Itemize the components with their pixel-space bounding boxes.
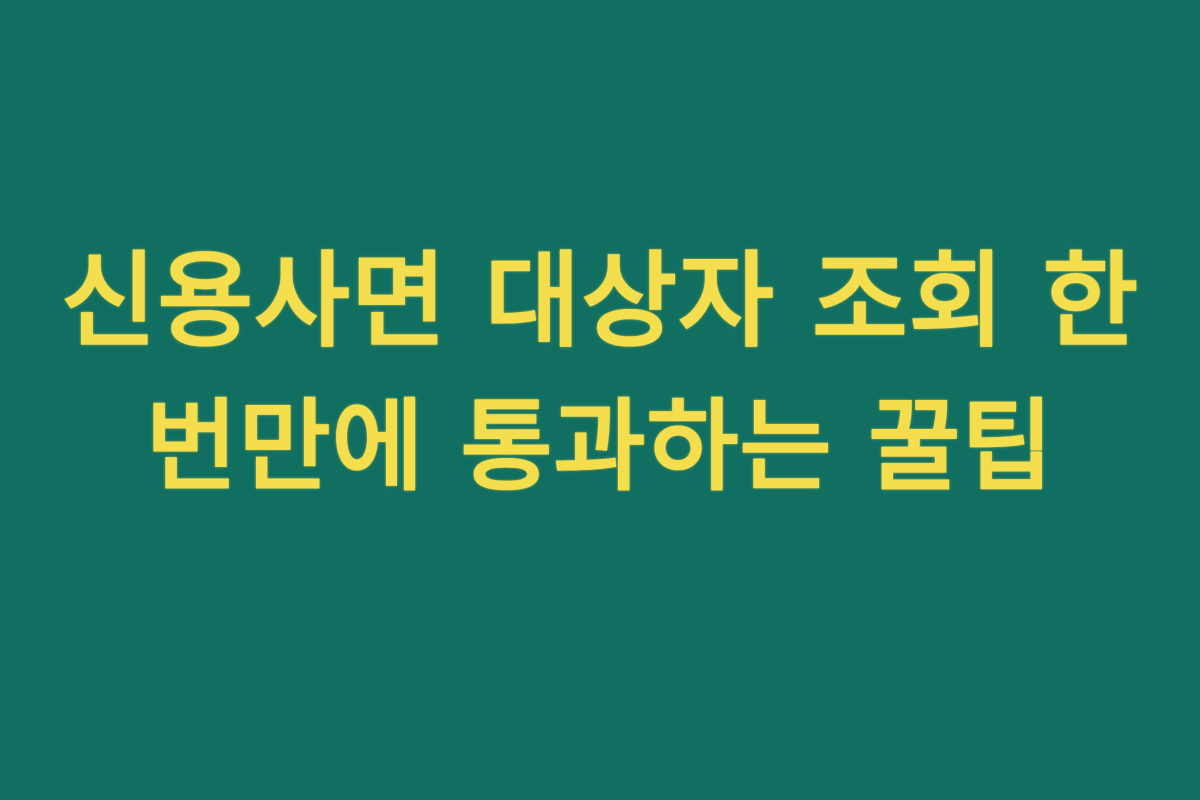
headline-block: 신용사면 대상자 조회 한 번만에 통과하는 꿀팁 xyxy=(40,229,1160,519)
headline-line-2: 번만에 통과하는 꿀팁 xyxy=(40,374,1160,519)
headline-line-1: 신용사면 대상자 조회 한 xyxy=(40,229,1160,374)
thumbnail-card: 신용사면 대상자 조회 한 번만에 통과하는 꿀팁 xyxy=(0,0,1200,800)
